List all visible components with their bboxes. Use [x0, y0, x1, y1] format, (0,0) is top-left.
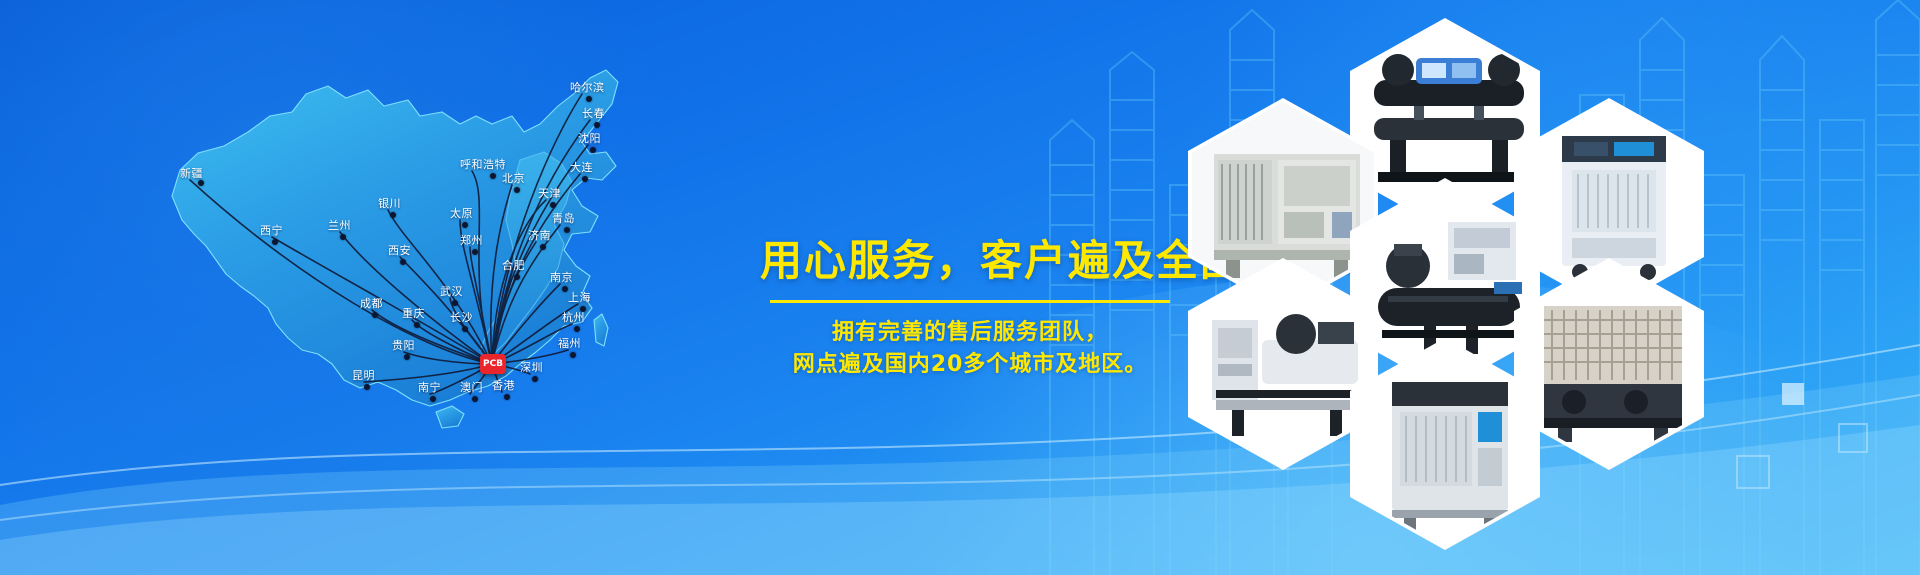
map-city-label: 杭州	[562, 312, 585, 323]
decor-square-outline-1	[1838, 423, 1868, 453]
product-hex-water-cooled-box-chiller[interactable]	[1188, 258, 1378, 470]
map-city-label: 武汉	[440, 286, 463, 297]
map-city-label: 济南	[528, 230, 551, 241]
map-city-label: 澳门	[460, 382, 483, 393]
map-city-dot	[364, 384, 370, 390]
map-city-dot	[590, 147, 596, 153]
map-city-dot	[272, 239, 278, 245]
map-city-dot	[372, 312, 378, 318]
map-city-label: 合肥	[502, 260, 525, 271]
map-city-label: 成都	[360, 298, 383, 309]
map-city-dot	[594, 122, 600, 128]
map-city-label: 南京	[550, 272, 573, 283]
banner-copy-block: 用心服务，客户遍及全国 拥有完善的售后服务团队， 网点遍及国内20多个城市及地区…	[760, 238, 1180, 381]
map-city-label: 郑州	[460, 235, 483, 246]
map-city-dot	[198, 180, 204, 186]
decor-square-outline-2	[1736, 455, 1770, 489]
page-title: 用心服务，客户遍及全国	[760, 238, 1180, 284]
map-city-label: 呼和浩特	[460, 159, 506, 170]
map-city-label: 北京	[502, 173, 525, 184]
map-city-dot	[400, 259, 406, 265]
map-city-label: 贵阳	[392, 340, 415, 351]
subtext-line-1: 拥有完善的售后服务团队，	[760, 317, 1180, 349]
map-city-label: 南宁	[418, 382, 441, 393]
promo-banner: 新疆哈尔滨长春沈阳呼和浩特北京大连天津银川太原西宁兰州青岛郑州西安济南合肥武汉南…	[0, 0, 1920, 575]
map-city-label: 福州	[558, 338, 581, 349]
map-city-label: 兰州	[328, 220, 351, 231]
map-city-dot	[582, 176, 588, 182]
map-city-label: 香港	[492, 380, 515, 391]
map-city-dot	[390, 212, 396, 218]
map-city-dot	[586, 96, 592, 102]
map-city-label: 太原	[450, 208, 473, 219]
map-city-dot	[462, 326, 468, 332]
map-city-dot	[430, 396, 436, 402]
map-city-label: 大连	[570, 162, 593, 173]
map-city-label: 重庆	[402, 308, 425, 319]
map-city-dot	[472, 249, 478, 255]
map-city-dot	[462, 222, 468, 228]
map-city-dot	[340, 234, 346, 240]
map-city-dot	[504, 394, 510, 400]
map-city-dot	[490, 173, 496, 179]
map-city-dot	[540, 244, 546, 250]
map-city-label: 哈尔滨	[570, 82, 605, 93]
subtext-line-2: 网点遍及国内20多个城市及地区。	[760, 349, 1180, 381]
map-city-label: 沈阳	[578, 133, 601, 144]
map-city-dot	[452, 300, 458, 306]
map-city-label: 上海	[568, 292, 591, 303]
map-city-label: 昆明	[352, 370, 375, 381]
hub-marker-pcb[interactable]: PCB	[480, 354, 506, 374]
map-city-dot	[514, 187, 520, 193]
map-city-dot	[574, 326, 580, 332]
product-hex-box-type-water-chiller[interactable]	[1350, 338, 1540, 550]
china-distribution-map: 新疆哈尔滨长春沈阳呼和浩特北京大连天津银川太原西宁兰州青岛郑州西安济南合肥武汉南…	[120, 20, 680, 440]
map-city-label: 新疆	[180, 168, 203, 179]
product-hex-open-frame-air-chiller[interactable]	[1514, 258, 1704, 470]
map-city-dot	[414, 322, 420, 328]
map-city-dot	[550, 202, 556, 208]
map-city-label: 长沙	[450, 312, 473, 323]
product-hex-collage	[1180, 8, 1740, 568]
map-city-label: 银川	[378, 198, 401, 209]
map-city-dot	[514, 274, 520, 280]
map-city-dot	[570, 352, 576, 358]
map-city-dot	[564, 227, 570, 233]
map-city-label: 天津	[538, 188, 561, 199]
map-city-label: 西安	[388, 245, 411, 256]
map-city-label: 西宁	[260, 225, 283, 236]
map-city-label: 长春	[582, 108, 605, 119]
map-city-label: 青岛	[552, 213, 575, 224]
title-divider	[770, 300, 1170, 303]
map-city-dot	[472, 396, 478, 402]
decor-square-filled	[1782, 383, 1804, 405]
map-city-dot	[532, 376, 538, 382]
map-city-label: 深圳	[520, 362, 543, 373]
map-city-dot	[404, 354, 410, 360]
